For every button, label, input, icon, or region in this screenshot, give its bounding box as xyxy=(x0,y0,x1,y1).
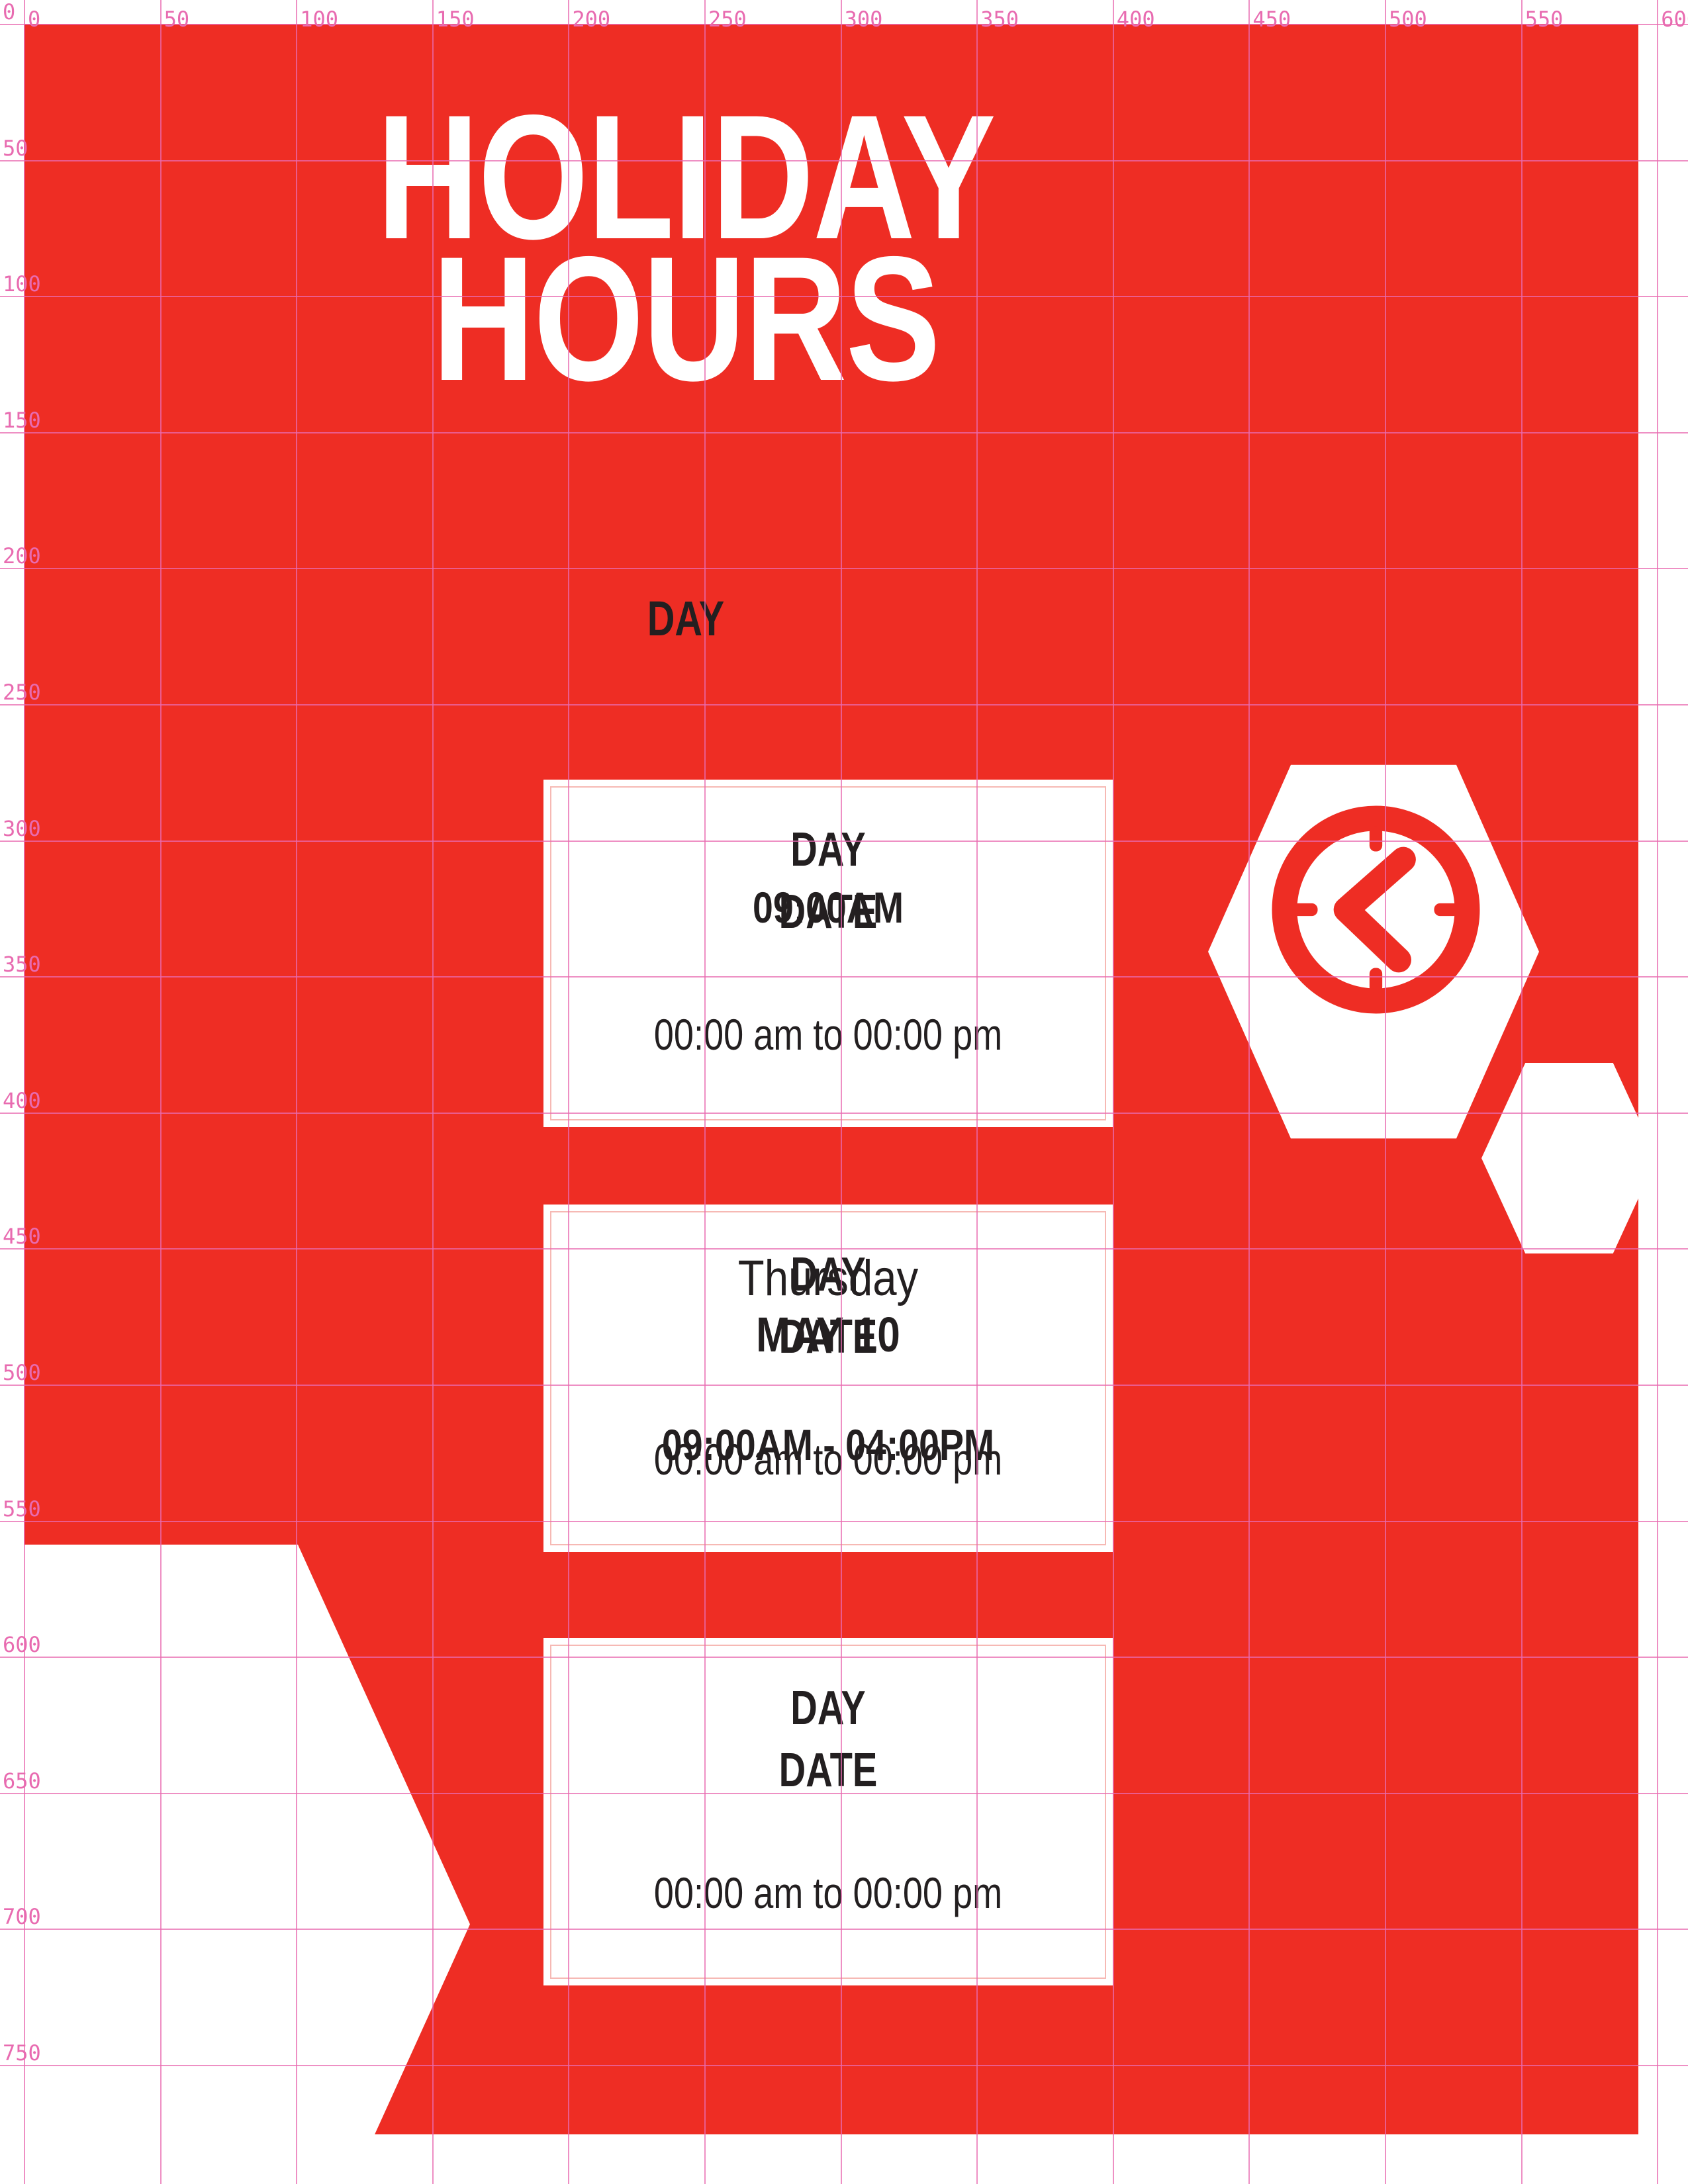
subtitle-day: DAY xyxy=(169,594,1202,643)
clock-icon xyxy=(1262,796,1490,1024)
hours-card-border: DAY Thursday DATE MAY 10 00:00 am to 00:… xyxy=(550,1211,1106,1545)
card-day-placeholder: DAY xyxy=(612,826,1044,874)
hexagon-decor-icon-large xyxy=(24,1529,470,2134)
hours-card-border: DAY DATE 00:00 am to 00:00 pm xyxy=(550,1645,1106,1979)
page-title: HOLIDAY HOURS xyxy=(156,106,1215,390)
grid-label-x: 600 xyxy=(1661,9,1688,30)
card-hours-placeholder: 00:00 am to 00:00 pm xyxy=(601,1871,1055,1915)
grid-line-vertical xyxy=(1657,0,1658,2184)
hours-card[interactable]: DAY Thursday DATE MAY 10 00:00 am to 00:… xyxy=(543,1205,1113,1552)
hours-card-border: DAY DATE 09:00AM 00:00 am to 00:00 pm xyxy=(550,786,1106,1120)
card-hours-placeholder: 00:00 am to 00:00 pm xyxy=(601,1013,1055,1056)
poster-canvas: HOLIDAY HOURS DAY DAY DATE 09:00AM 00:00… xyxy=(0,0,1688,2184)
grid-label-y: 0 xyxy=(3,1,15,23)
card-day-placeholder: DAY xyxy=(612,1684,1044,1732)
poster-panel: HOLIDAY HOURS DAY DAY DATE 09:00AM 00:00… xyxy=(24,24,1638,2134)
card-hours-value: 09:00AM xyxy=(596,886,1060,929)
card-date-value: MAY 10 xyxy=(596,1310,1060,1359)
hexagon-decor-icon-small xyxy=(1481,1059,1638,1257)
hours-card[interactable]: DAY DATE 00:00 am to 00:00 pm xyxy=(543,1638,1113,1985)
page-title-line-2: HOURS xyxy=(156,248,1215,389)
card-hours-value: 09:00AM - 04:00PM xyxy=(596,1423,1060,1467)
hours-card[interactable]: DAY DATE 09:00AM 00:00 am to 00:00 pm xyxy=(543,780,1113,1127)
card-day-value: Thursday xyxy=(590,1253,1066,1304)
card-date-placeholder: DATE xyxy=(612,1747,1044,1794)
